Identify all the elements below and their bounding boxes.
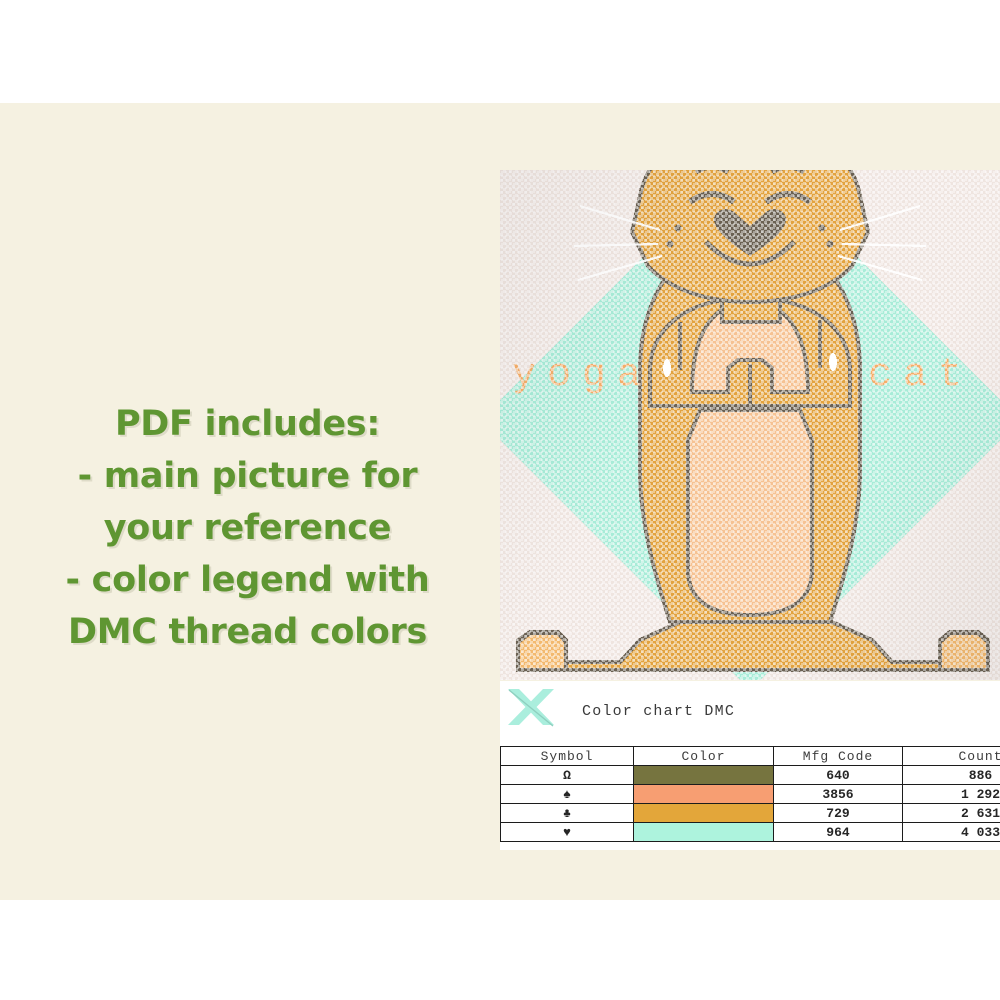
color-swatch bbox=[634, 766, 773, 784]
cell-mfg-code: 729 bbox=[774, 804, 903, 823]
promo-line-3: your reference bbox=[20, 502, 475, 554]
column-header-count: Count bbox=[903, 747, 1000, 766]
cat-claw-left bbox=[663, 359, 671, 377]
cell-symbol: ♥ bbox=[501, 823, 634, 842]
table-row: ♥ 964 4 033 bbox=[501, 823, 1000, 842]
cat-right-paw bbox=[940, 633, 988, 670]
table-row: ♠ 3856 1 292 bbox=[501, 785, 1000, 804]
promo-line-4: - color legend with bbox=[20, 554, 475, 606]
cat-cheek-dot-l2 bbox=[667, 241, 674, 248]
cell-color-swatch bbox=[634, 766, 774, 785]
color-swatch bbox=[634, 785, 773, 803]
cell-count: 2 631 bbox=[903, 804, 1000, 823]
cell-color-swatch bbox=[634, 804, 774, 823]
column-header-color: Color bbox=[634, 747, 774, 766]
color-swatch bbox=[634, 823, 773, 841]
cat-cheek-dot-r1 bbox=[819, 225, 826, 232]
cat-chest-patch bbox=[688, 410, 812, 615]
cell-count: 4 033 bbox=[903, 823, 1000, 842]
promo-line-5: DMC thread colors bbox=[20, 606, 475, 658]
cell-mfg-code: 964 bbox=[774, 823, 903, 842]
promo-line-2: - main picture for bbox=[20, 450, 475, 502]
stitched-word-yoga: yoga bbox=[512, 353, 652, 398]
table-row: ♣ 729 2 631 bbox=[501, 804, 1000, 823]
dmc-color-table: Symbol Color Mfg Code Count Ω 640 886 ♠ bbox=[500, 746, 1000, 842]
table-header-row: Symbol Color Mfg Code Count bbox=[501, 747, 1000, 766]
cell-count: 1 292 bbox=[903, 785, 1000, 804]
yoga-cat-artwork: yoga cat bbox=[500, 170, 1000, 680]
cell-mfg-code: 3856 bbox=[774, 785, 903, 804]
cross-stitch-x-icon bbox=[505, 685, 557, 733]
cell-count: 886 bbox=[903, 766, 1000, 785]
stitched-word-cat: cat bbox=[868, 353, 973, 398]
cat-claw-right bbox=[829, 353, 837, 371]
cell-mfg-code: 640 bbox=[774, 766, 903, 785]
column-header-symbol: Symbol bbox=[501, 747, 634, 766]
cat-cheek-dot-r2 bbox=[827, 241, 834, 248]
column-header-mfg-code: Mfg Code bbox=[774, 747, 903, 766]
cross-stitch-preview-image: yoga cat bbox=[500, 170, 1000, 680]
color-swatch bbox=[634, 804, 773, 822]
cell-color-swatch bbox=[634, 785, 774, 804]
cell-color-swatch bbox=[634, 823, 774, 842]
cat-cheek-dot-l1 bbox=[675, 225, 682, 232]
promo-line-1: PDF includes: bbox=[20, 398, 475, 450]
dmc-color-table-wrapper: Symbol Color Mfg Code Count Ω 640 886 ♠ bbox=[500, 746, 1000, 850]
table-row: Ω 640 886 bbox=[501, 766, 1000, 785]
cell-symbol: Ω bbox=[501, 766, 634, 785]
cell-symbol: ♣ bbox=[501, 804, 634, 823]
legend-title: Color chart DMC bbox=[582, 703, 735, 720]
cat-lap bbox=[518, 618, 988, 670]
legend-header: Color chart DMC bbox=[500, 681, 1000, 746]
cell-symbol: ♠ bbox=[501, 785, 634, 804]
promo-text-block: PDF includes: - main picture for your re… bbox=[20, 398, 475, 658]
cat-left-paw bbox=[518, 633, 566, 670]
page-root: PDF includes: - main picture for your re… bbox=[0, 0, 1000, 1000]
